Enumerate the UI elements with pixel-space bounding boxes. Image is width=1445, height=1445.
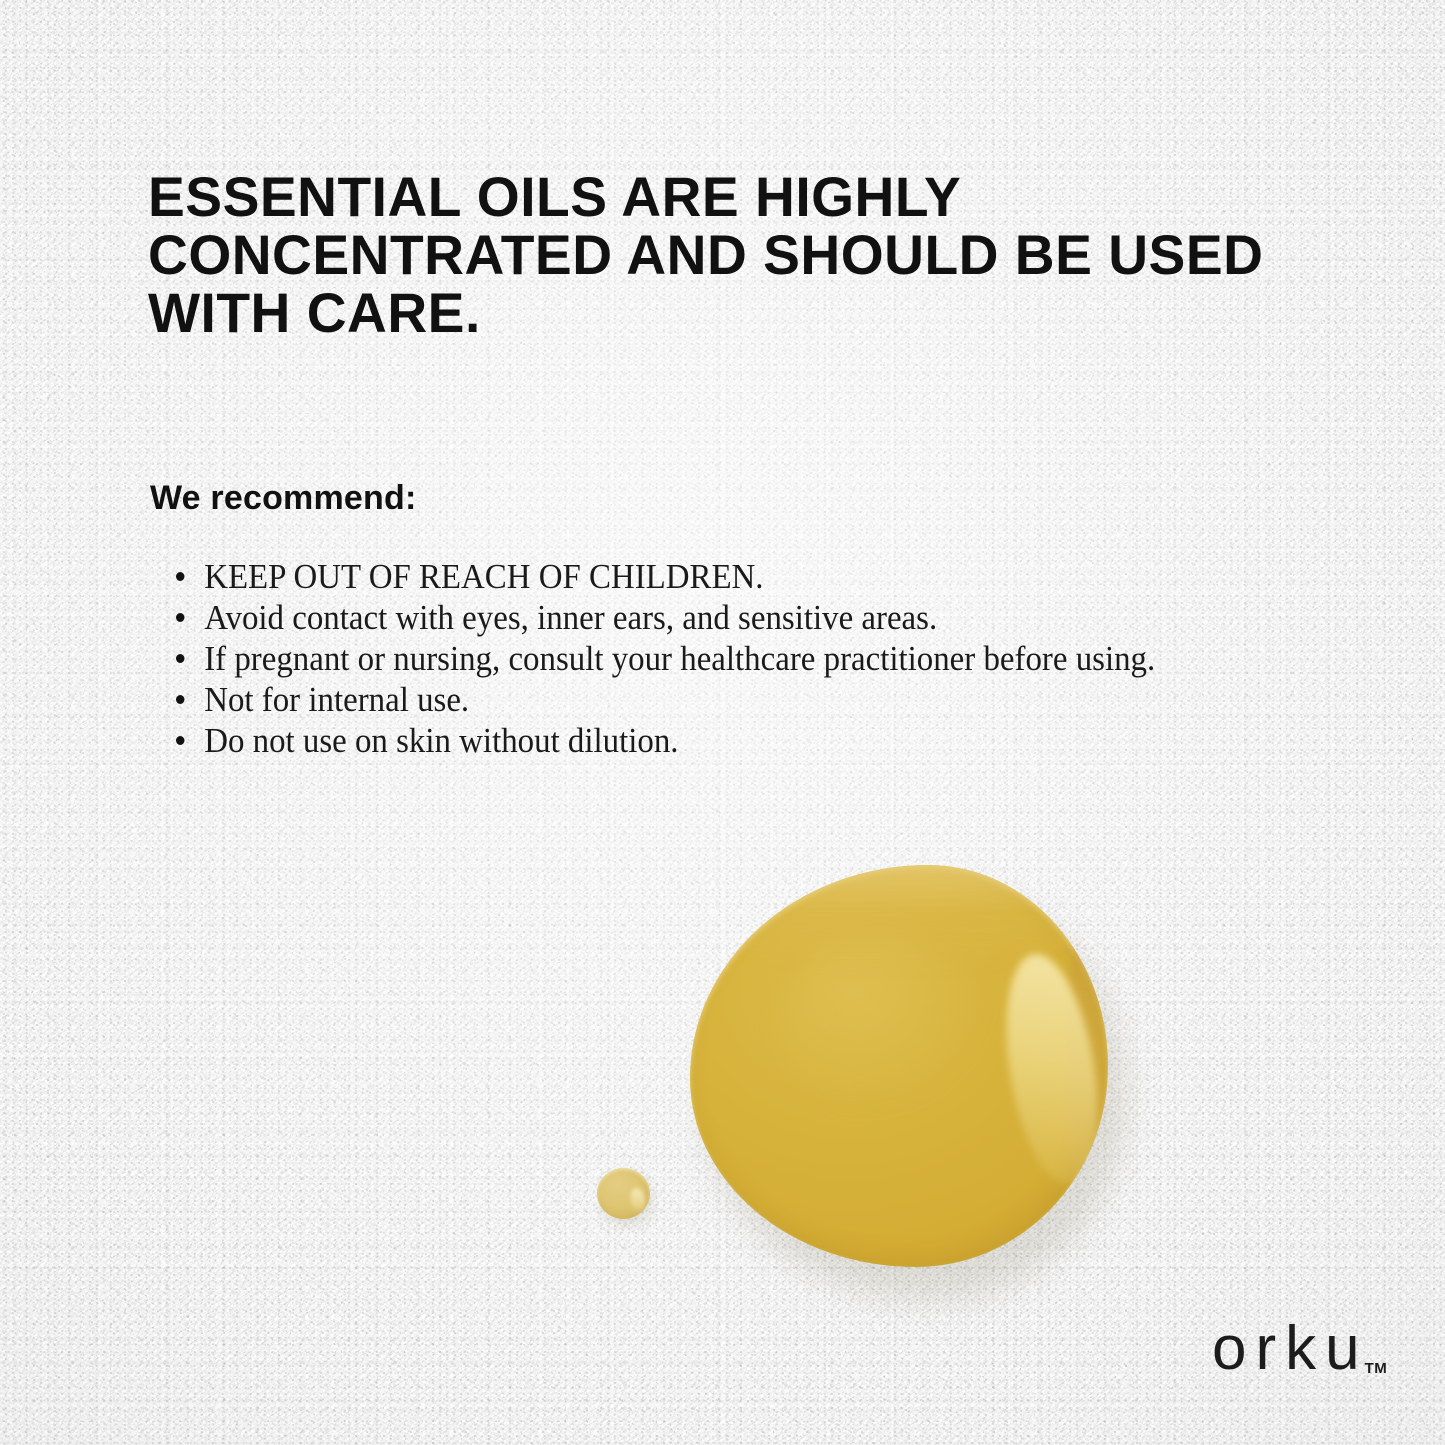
list-item-label: Not for internal use. bbox=[204, 680, 469, 719]
list-item: Do not use on skin without dilution. bbox=[176, 720, 1323, 761]
bullet-icon bbox=[176, 572, 184, 581]
bullet-icon bbox=[176, 613, 184, 622]
list-item-label: Do not use on skin without dilution. bbox=[204, 721, 678, 760]
list-item: Avoid contact with eyes, inner ears, and… bbox=[176, 597, 1323, 638]
list-item: If pregnant or nursing, consult your hea… bbox=[176, 638, 1323, 679]
bullet-icon bbox=[176, 654, 184, 663]
list-item: KEEP OUT OF REACH OF CHILDREN. bbox=[176, 556, 1323, 597]
page-title: ESSENTIAL OILS ARE HIGHLY CONCENTRATED A… bbox=[148, 168, 1310, 342]
list-item-label: KEEP OUT OF REACH OF CHILDREN. bbox=[204, 557, 763, 596]
bullet-icon bbox=[176, 736, 184, 745]
trademark-icon: TM bbox=[1365, 1361, 1388, 1376]
droplet-satellite bbox=[597, 1168, 650, 1219]
safety-info-card: ESSENTIAL OILS ARE HIGHLY CONCENTRATED A… bbox=[0, 0, 1445, 1445]
brand-wordmark: orku bbox=[1212, 1318, 1369, 1380]
recommendations-list: KEEP OUT OF REACH OF CHILDREN. Avoid con… bbox=[176, 556, 1396, 761]
droplet-main bbox=[690, 865, 1108, 1267]
oil-droplet-illustration bbox=[560, 840, 1160, 1300]
recommendations-heading: We recommend: bbox=[150, 478, 416, 518]
list-item-label: Avoid contact with eyes, inner ears, and… bbox=[204, 598, 937, 637]
bullet-icon bbox=[176, 695, 184, 704]
list-item: Not for internal use. bbox=[176, 679, 1323, 720]
brand-logo: orku TM bbox=[1212, 1318, 1387, 1380]
list-item-label: If pregnant or nursing, consult your hea… bbox=[204, 639, 1155, 678]
